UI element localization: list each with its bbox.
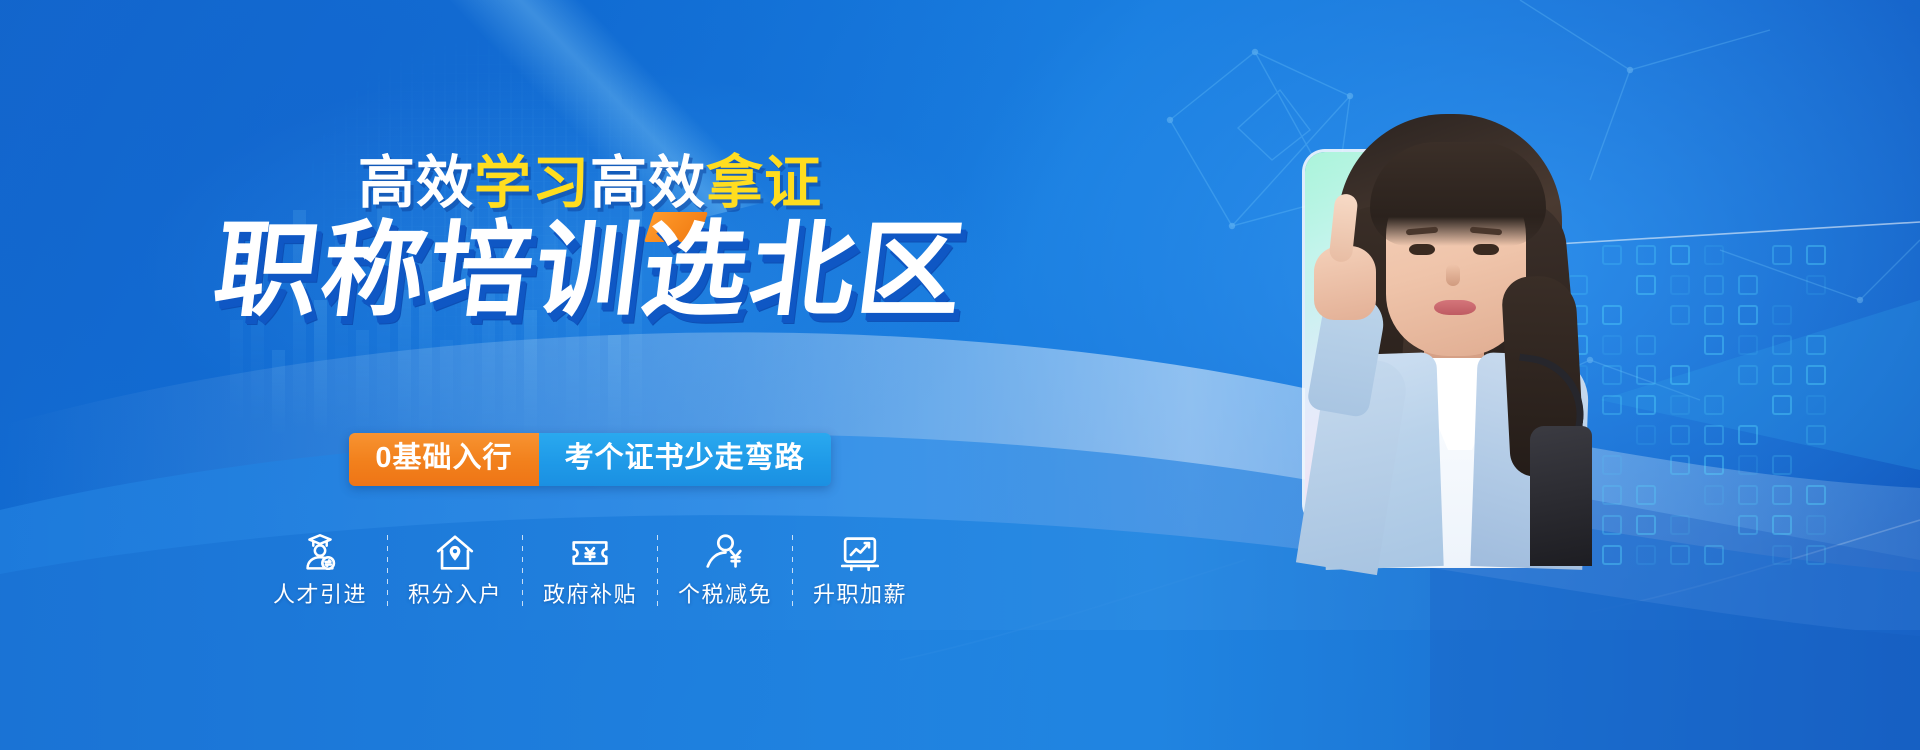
hair-fringe (1370, 142, 1546, 246)
growth-chart-icon (837, 530, 883, 576)
subheadline: 高效学习高效拿证 (0, 155, 1180, 212)
promo-banner: 高效学习高效拿证 职称培训选北区 0基础入行 考个证书少走弯路 人才引进 积分入… (0, 0, 1920, 750)
ticket-yuan-icon (567, 530, 613, 576)
headline-accent-mark: 选 (643, 218, 750, 322)
badge-secondary-label: 考个证书少走弯路 (539, 433, 831, 486)
eye-right (1473, 244, 1499, 255)
feature-item-2[interactable]: 政府补贴 (523, 530, 657, 607)
person-yuan-icon (702, 530, 748, 576)
handbag (1530, 426, 1592, 566)
tagline-badge[interactable]: 0基础入行 考个证书少走弯路 (349, 433, 830, 486)
mouth (1434, 300, 1476, 315)
feature-item-0[interactable]: 人才引进 (253, 530, 387, 607)
subheadline-segment-3: 拿证 (706, 155, 822, 212)
graduate-cap-person-icon (297, 530, 343, 576)
headline-segment-1: 选 (637, 218, 757, 322)
subheadline-segment-1: 学习 (474, 155, 590, 212)
feature-label: 人才引进 (273, 585, 367, 607)
feature-list: 人才引进 积分入户 政府补贴 个税减免 (0, 530, 1180, 607)
avatar (1238, 96, 1658, 566)
feature-label: 升职加薪 (813, 585, 907, 607)
eye-left (1409, 244, 1435, 255)
feature-item-3[interactable]: 个税减免 (658, 530, 792, 607)
badge-primary-label: 0基础入行 (349, 433, 538, 486)
house-location-pin-icon (432, 530, 478, 576)
feature-label: 积分入户 (408, 585, 502, 607)
feature-item-1[interactable]: 积分入户 (388, 530, 522, 607)
nose (1446, 264, 1460, 286)
page-title: 职称培训选北区 (0, 218, 1180, 322)
feature-label: 政府补贴 (543, 585, 637, 607)
headline-segment-2: 北区 (744, 218, 971, 322)
headline-segment-0: 职称培训 (209, 218, 650, 322)
feature-item-4[interactable]: 升职加薪 (793, 530, 927, 607)
badge-row: 0基础入行 考个证书少走弯路 (0, 433, 1180, 486)
feature-label: 个税减免 (678, 585, 772, 607)
subheadline-segment-0: 高效 (358, 155, 474, 212)
subheadline-segment-2: 高效 (590, 155, 706, 212)
